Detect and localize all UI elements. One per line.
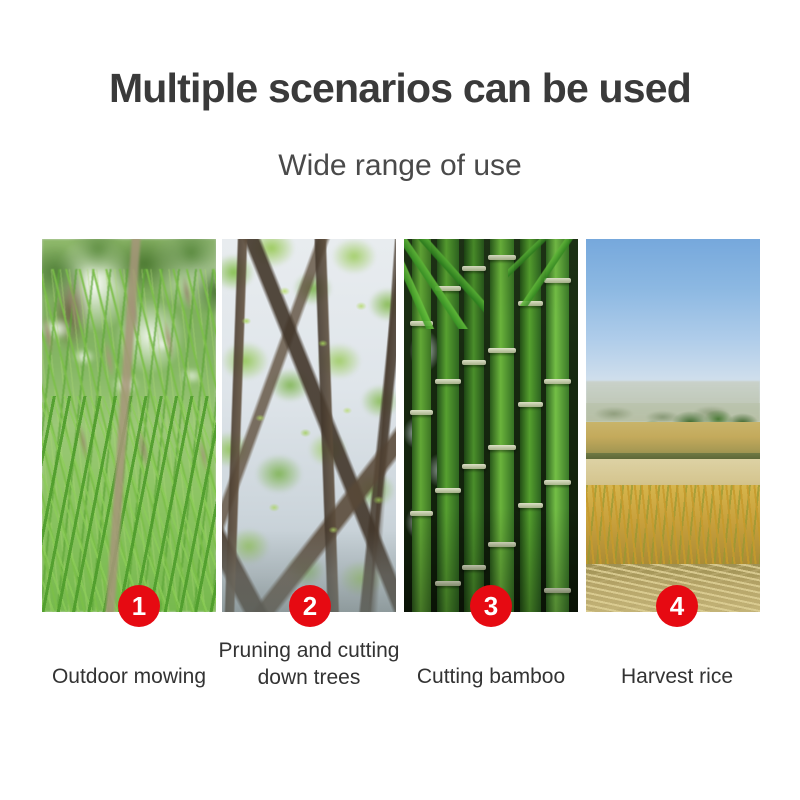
scenario-badge-1: 1 xyxy=(118,585,160,627)
rice-field-photo xyxy=(586,239,760,612)
grass-meadow-photo xyxy=(42,239,216,612)
scenario-badge-4: 4 xyxy=(656,585,698,627)
scenario-image-3[interactable] xyxy=(404,239,578,612)
scenario-gallery xyxy=(42,239,758,612)
page-subtitle: Wide range of use xyxy=(0,147,800,185)
promo-page: Multiple scenarios can be used Wide rang… xyxy=(0,0,800,800)
page-title: Multiple scenarios can be used xyxy=(0,64,800,112)
scenario-image-2[interactable] xyxy=(222,239,396,612)
scenario-image-4[interactable] xyxy=(586,239,760,612)
tree-branches-photo xyxy=(222,239,396,612)
scenario-caption-4: Harvest rice xyxy=(580,663,774,690)
scenario-badge-2: 2 xyxy=(289,585,331,627)
scenario-caption-2: Pruning and cutting down trees xyxy=(212,637,406,691)
scenario-caption-1: Outdoor mowing xyxy=(22,663,236,690)
bamboo-grove-photo xyxy=(404,239,578,612)
scenario-image-1[interactable] xyxy=(42,239,216,612)
scenario-caption-3: Cutting bamboo xyxy=(394,663,588,690)
scenario-badge-3: 3 xyxy=(470,585,512,627)
